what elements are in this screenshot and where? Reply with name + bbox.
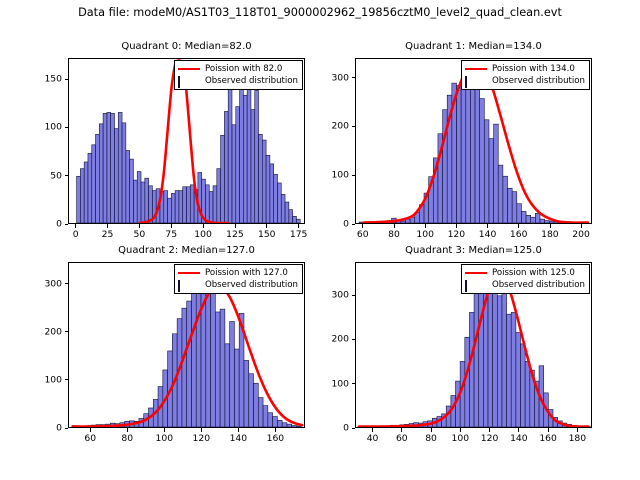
legend-row-observed: Observed distribution xyxy=(178,75,298,87)
y-tick-mark xyxy=(352,126,356,127)
y-tick-mark xyxy=(65,331,69,332)
histogram-bar xyxy=(182,308,187,427)
histogram-bar xyxy=(507,314,512,427)
histogram-bar xyxy=(456,86,461,223)
legend-quadrant2: Poission with 127.0 Observed distributio… xyxy=(174,264,303,294)
legend-row-poisson: Poission with 125.0 xyxy=(465,267,585,279)
x-tick-label: 80 xyxy=(388,229,400,240)
histogram-bar xyxy=(285,202,289,223)
y-tick-label: 300 xyxy=(297,290,349,301)
legend-row-poisson: Poission with 82.0 xyxy=(178,63,298,75)
histogram-bar xyxy=(475,86,480,223)
histogram-bar xyxy=(206,286,211,427)
y-tick-label: 200 xyxy=(10,326,62,337)
legend-row-observed: Observed distribution xyxy=(465,75,585,87)
subplot-quadrant2: Quadrant 2: Median=127.0 Poission with 1… xyxy=(68,262,305,428)
histogram-bar xyxy=(273,417,278,427)
histogram-bar xyxy=(220,309,225,427)
histogram-bar xyxy=(292,426,297,427)
histogram-bar xyxy=(540,219,545,223)
histogram-bar xyxy=(293,216,297,223)
x-tick-mark xyxy=(456,224,457,228)
x-tick-mark xyxy=(75,224,76,228)
histogram-bar xyxy=(255,90,259,223)
x-tick-mark xyxy=(550,224,551,228)
legend-label-observed: Observed distribution xyxy=(205,279,298,291)
histogram-bar xyxy=(531,217,536,223)
x-tick-mark xyxy=(372,428,373,432)
histogram-bar xyxy=(282,423,287,427)
histogram-bar xyxy=(512,192,517,223)
y-tick-label: 100 xyxy=(10,374,62,385)
y-tick-label: 0 xyxy=(10,423,62,434)
histogram-bar xyxy=(493,273,498,427)
histogram-bar xyxy=(502,291,507,427)
x-tick-label: 50 xyxy=(133,229,145,240)
x-tick-label: 25 xyxy=(102,229,114,240)
histogram-bar xyxy=(516,333,521,427)
legend-label-observed: Observed distribution xyxy=(492,75,585,87)
histogram-bar xyxy=(224,111,228,223)
x-tick-label: 140 xyxy=(230,433,248,444)
y-tick-label: 100 xyxy=(10,122,62,133)
histogram-bar xyxy=(489,139,494,223)
histogram-bar xyxy=(287,424,292,427)
legend-label-observed: Observed distribution xyxy=(205,75,298,87)
histogram-bar xyxy=(96,134,100,223)
x-tick-label: 180 xyxy=(541,229,559,240)
x-tick-label: 100 xyxy=(452,433,470,444)
y-tick-mark xyxy=(65,79,69,80)
histogram-bars xyxy=(72,282,301,427)
histogram-bar xyxy=(118,112,122,223)
x-tick-label: 0 xyxy=(73,229,79,240)
subplot-title-quadrant0: Quadrant 0: Median=82.0 xyxy=(68,41,305,52)
subplot-quadrant1: Quadrant 1: Median=134.0 Poission with 1… xyxy=(355,58,592,224)
y-tick-label: 0 xyxy=(297,219,349,230)
histogram-bar xyxy=(494,124,499,223)
y-tick-label: 300 xyxy=(297,72,349,83)
y-tick-mark xyxy=(65,175,69,176)
poisson-line-icon xyxy=(465,64,487,74)
histogram-bar xyxy=(179,191,183,223)
y-tick-label: 100 xyxy=(297,170,349,181)
histogram-bar xyxy=(270,164,274,223)
x-tick-label: 60 xyxy=(357,229,369,240)
histogram-bar xyxy=(77,176,81,223)
histogram-bar xyxy=(401,221,406,223)
histogram-bar xyxy=(230,321,235,427)
histogram-bar xyxy=(244,360,249,427)
histogram-bar xyxy=(215,312,220,427)
x-tick-label: 160 xyxy=(510,229,528,240)
x-tick-mark xyxy=(238,428,239,432)
x-tick-mark xyxy=(431,428,432,432)
subplot-title-quadrant3: Quadrant 3: Median=125.0 xyxy=(355,245,592,256)
histogram-bar xyxy=(251,110,255,223)
histogram-bar xyxy=(474,294,479,427)
x-tick-mark xyxy=(266,224,267,228)
histogram-bar xyxy=(461,78,466,223)
histogram-bar xyxy=(164,191,168,223)
x-tick-mark xyxy=(171,224,172,228)
histogram-bar xyxy=(209,192,213,223)
y-tick-mark xyxy=(65,283,69,284)
histogram-bar xyxy=(187,187,191,223)
histogram-patch-icon xyxy=(465,76,487,86)
histogram-bar xyxy=(114,129,118,223)
x-tick-mark xyxy=(460,428,461,432)
histogram-bar xyxy=(126,151,130,223)
poisson-line-icon xyxy=(465,268,487,278)
histogram-bar xyxy=(234,349,239,427)
y-tick-mark xyxy=(352,295,356,296)
histogram-bar xyxy=(232,125,236,223)
histogram-bar xyxy=(107,112,111,223)
y-tick-mark xyxy=(65,224,69,225)
x-tick-mark xyxy=(139,224,140,228)
x-tick-label: 100 xyxy=(194,229,212,240)
histogram-bar xyxy=(521,344,526,427)
x-tick-mark xyxy=(581,224,582,228)
histogram-bar xyxy=(228,82,232,223)
histogram-bar xyxy=(122,123,126,223)
x-tick-label: 100 xyxy=(156,433,174,444)
y-tick-label: 200 xyxy=(297,121,349,132)
histogram-bar xyxy=(469,312,474,427)
histogram-bar xyxy=(175,191,179,223)
histogram-bar xyxy=(289,210,293,223)
histogram-bar xyxy=(149,186,153,223)
x-tick-mark xyxy=(489,428,490,432)
histogram-bar xyxy=(133,180,137,223)
x-tick-label: 100 xyxy=(416,229,434,240)
histogram-bar xyxy=(281,194,285,223)
histogram-bar xyxy=(525,361,530,427)
legend-row-poisson: Poission with 134.0 xyxy=(465,63,585,75)
legend-quadrant3: Poission with 125.0 Observed distributio… xyxy=(461,264,590,294)
legend-row-poisson: Poission with 127.0 xyxy=(178,267,298,279)
x-tick-label: 120 xyxy=(448,229,466,240)
poisson-line-icon xyxy=(178,64,200,74)
histogram-bar xyxy=(205,185,209,223)
x-tick-label: 120 xyxy=(481,433,499,444)
histogram-bar xyxy=(145,178,149,223)
x-tick-mark xyxy=(164,428,165,432)
x-tick-label: 60 xyxy=(396,433,408,444)
histogram-bar xyxy=(92,145,96,223)
histogram-bar xyxy=(236,107,240,223)
y-tick-label: 150 xyxy=(10,74,62,85)
x-tick-label: 40 xyxy=(367,433,379,444)
y-tick-mark xyxy=(352,383,356,384)
legend-label-observed: Observed distribution xyxy=(492,279,585,291)
histogram-bar xyxy=(171,193,175,223)
histogram-bar xyxy=(213,186,217,223)
x-tick-mark xyxy=(394,224,395,228)
x-tick-mark xyxy=(203,224,204,228)
x-tick-mark xyxy=(401,428,402,432)
x-tick-label: 60 xyxy=(84,433,96,444)
histogram-bar xyxy=(498,165,503,223)
x-tick-label: 125 xyxy=(226,229,244,240)
legend-label-poisson: Poission with 127.0 xyxy=(205,267,288,279)
histogram-bar xyxy=(240,88,244,223)
histogram-bar xyxy=(247,85,251,223)
histogram-bar xyxy=(511,312,516,427)
histogram-bar xyxy=(521,211,526,223)
legend-quadrant1: Poission with 134.0 Observed distributio… xyxy=(461,60,590,90)
legend-row-observed: Observed distribution xyxy=(465,279,585,291)
histogram-bar xyxy=(88,153,92,223)
y-tick-label: 0 xyxy=(297,423,349,434)
histogram-bar xyxy=(470,73,475,223)
histogram-bar xyxy=(480,99,485,223)
histogram-bar xyxy=(263,406,268,427)
y-tick-mark xyxy=(65,379,69,380)
y-tick-label: 0 xyxy=(10,219,62,230)
x-tick-label: 200 xyxy=(572,229,590,240)
histogram-bar xyxy=(217,169,221,223)
y-tick-mark xyxy=(352,77,356,78)
x-tick-mark xyxy=(577,428,578,432)
x-tick-mark xyxy=(518,224,519,228)
x-tick-mark xyxy=(518,428,519,432)
histogram-bar xyxy=(254,383,259,427)
legend-label-poisson: Poission with 125.0 xyxy=(492,267,575,279)
histogram-bar xyxy=(549,221,554,223)
x-tick-label: 140 xyxy=(479,229,497,240)
y-tick-mark xyxy=(352,175,356,176)
histogram-patch-icon xyxy=(178,280,200,290)
x-tick-label: 180 xyxy=(569,433,587,444)
histogram-bar xyxy=(268,413,273,427)
y-tick-mark xyxy=(352,224,356,225)
y-tick-label: 50 xyxy=(10,170,62,181)
x-tick-mark xyxy=(548,428,549,432)
histogram-bar xyxy=(466,80,471,223)
y-tick-mark xyxy=(352,428,356,429)
x-tick-mark xyxy=(275,428,276,432)
y-tick-mark xyxy=(352,339,356,340)
y-tick-mark xyxy=(65,127,69,128)
histogram-bar xyxy=(103,113,107,223)
histogram-bar xyxy=(111,113,115,223)
subplot-quadrant0: Quadrant 0: Median=82.0 Poission with 82… xyxy=(68,58,305,224)
histogram-bar xyxy=(221,135,225,223)
x-tick-mark xyxy=(362,224,363,228)
histogram-bar xyxy=(497,296,502,427)
x-tick-label: 160 xyxy=(267,433,285,444)
histogram-bar xyxy=(258,398,263,427)
histogram-bar xyxy=(545,221,550,223)
x-tick-mark xyxy=(235,224,236,228)
histogram-bar xyxy=(277,183,281,223)
histogram-bar xyxy=(211,284,216,427)
histogram-bar xyxy=(465,337,470,427)
histogram-bar xyxy=(526,215,531,223)
histogram-bar xyxy=(225,344,230,427)
histogram-bar xyxy=(488,283,493,427)
x-tick-label: 80 xyxy=(425,433,437,444)
histogram-bar xyxy=(130,159,134,223)
histogram-bar xyxy=(168,198,172,223)
x-tick-mark xyxy=(201,428,202,432)
histogram-bar xyxy=(84,162,88,223)
x-tick-mark xyxy=(90,428,91,432)
x-tick-label: 160 xyxy=(539,433,557,444)
y-tick-label: 300 xyxy=(10,278,62,289)
y-tick-label: 100 xyxy=(297,378,349,389)
matplotlib-figure: Data file: modeM0/AS1T03_118T01_90000029… xyxy=(0,0,640,480)
x-tick-label: 75 xyxy=(165,229,177,240)
histogram-bar xyxy=(190,185,194,223)
x-tick-label: 80 xyxy=(121,433,133,444)
x-tick-mark xyxy=(487,224,488,228)
subplot-title-quadrant1: Quadrant 1: Median=134.0 xyxy=(355,41,592,52)
x-tick-mark xyxy=(127,428,128,432)
y-tick-mark xyxy=(65,428,69,429)
histogram-bar xyxy=(249,374,254,427)
figure-title: Data file: modeM0/AS1T03_118T01_90000029… xyxy=(0,6,640,19)
subplot-title-quadrant2: Quadrant 2: Median=127.0 xyxy=(68,245,305,256)
histogram-bar xyxy=(517,204,522,223)
x-tick-mark xyxy=(107,224,108,228)
poisson-line-icon xyxy=(178,268,200,278)
histogram-bar xyxy=(266,155,270,223)
x-tick-mark xyxy=(425,224,426,228)
legend-label-poisson: Poission with 134.0 xyxy=(492,63,575,75)
histogram-bar xyxy=(479,278,484,427)
histogram-bar xyxy=(484,120,489,223)
histogram-patch-icon xyxy=(178,76,200,86)
histogram-bar xyxy=(141,182,145,223)
x-tick-label: 120 xyxy=(193,433,211,444)
histogram-bar xyxy=(277,420,282,427)
histogram-bar xyxy=(503,176,508,223)
histogram-bar xyxy=(274,174,278,223)
histogram-bar xyxy=(262,140,266,223)
histogram-patch-icon xyxy=(465,280,487,290)
histogram-bar xyxy=(99,124,103,223)
histogram-bars xyxy=(359,73,586,223)
histogram-bar xyxy=(187,301,192,427)
histogram-bar xyxy=(80,169,84,223)
legend-label-poisson: Poission with 82.0 xyxy=(205,63,282,75)
y-tick-label: 200 xyxy=(297,334,349,345)
histogram-bar xyxy=(183,187,187,223)
legend-row-observed: Observed distribution xyxy=(178,279,298,291)
histogram-bar xyxy=(137,172,141,223)
histogram-bar xyxy=(191,289,196,427)
histogram-bar xyxy=(535,213,540,223)
subplot-quadrant3: Quadrant 3: Median=125.0 Poission with 1… xyxy=(355,262,592,428)
x-tick-label: 175 xyxy=(290,229,308,240)
x-tick-label: 140 xyxy=(510,433,528,444)
x-tick-label: 150 xyxy=(258,229,276,240)
legend-quadrant0: Poission with 82.0 Observed distribution xyxy=(174,60,303,90)
histogram-bar xyxy=(243,95,247,223)
histogram-bar xyxy=(259,134,263,223)
histogram-bar xyxy=(508,188,513,223)
